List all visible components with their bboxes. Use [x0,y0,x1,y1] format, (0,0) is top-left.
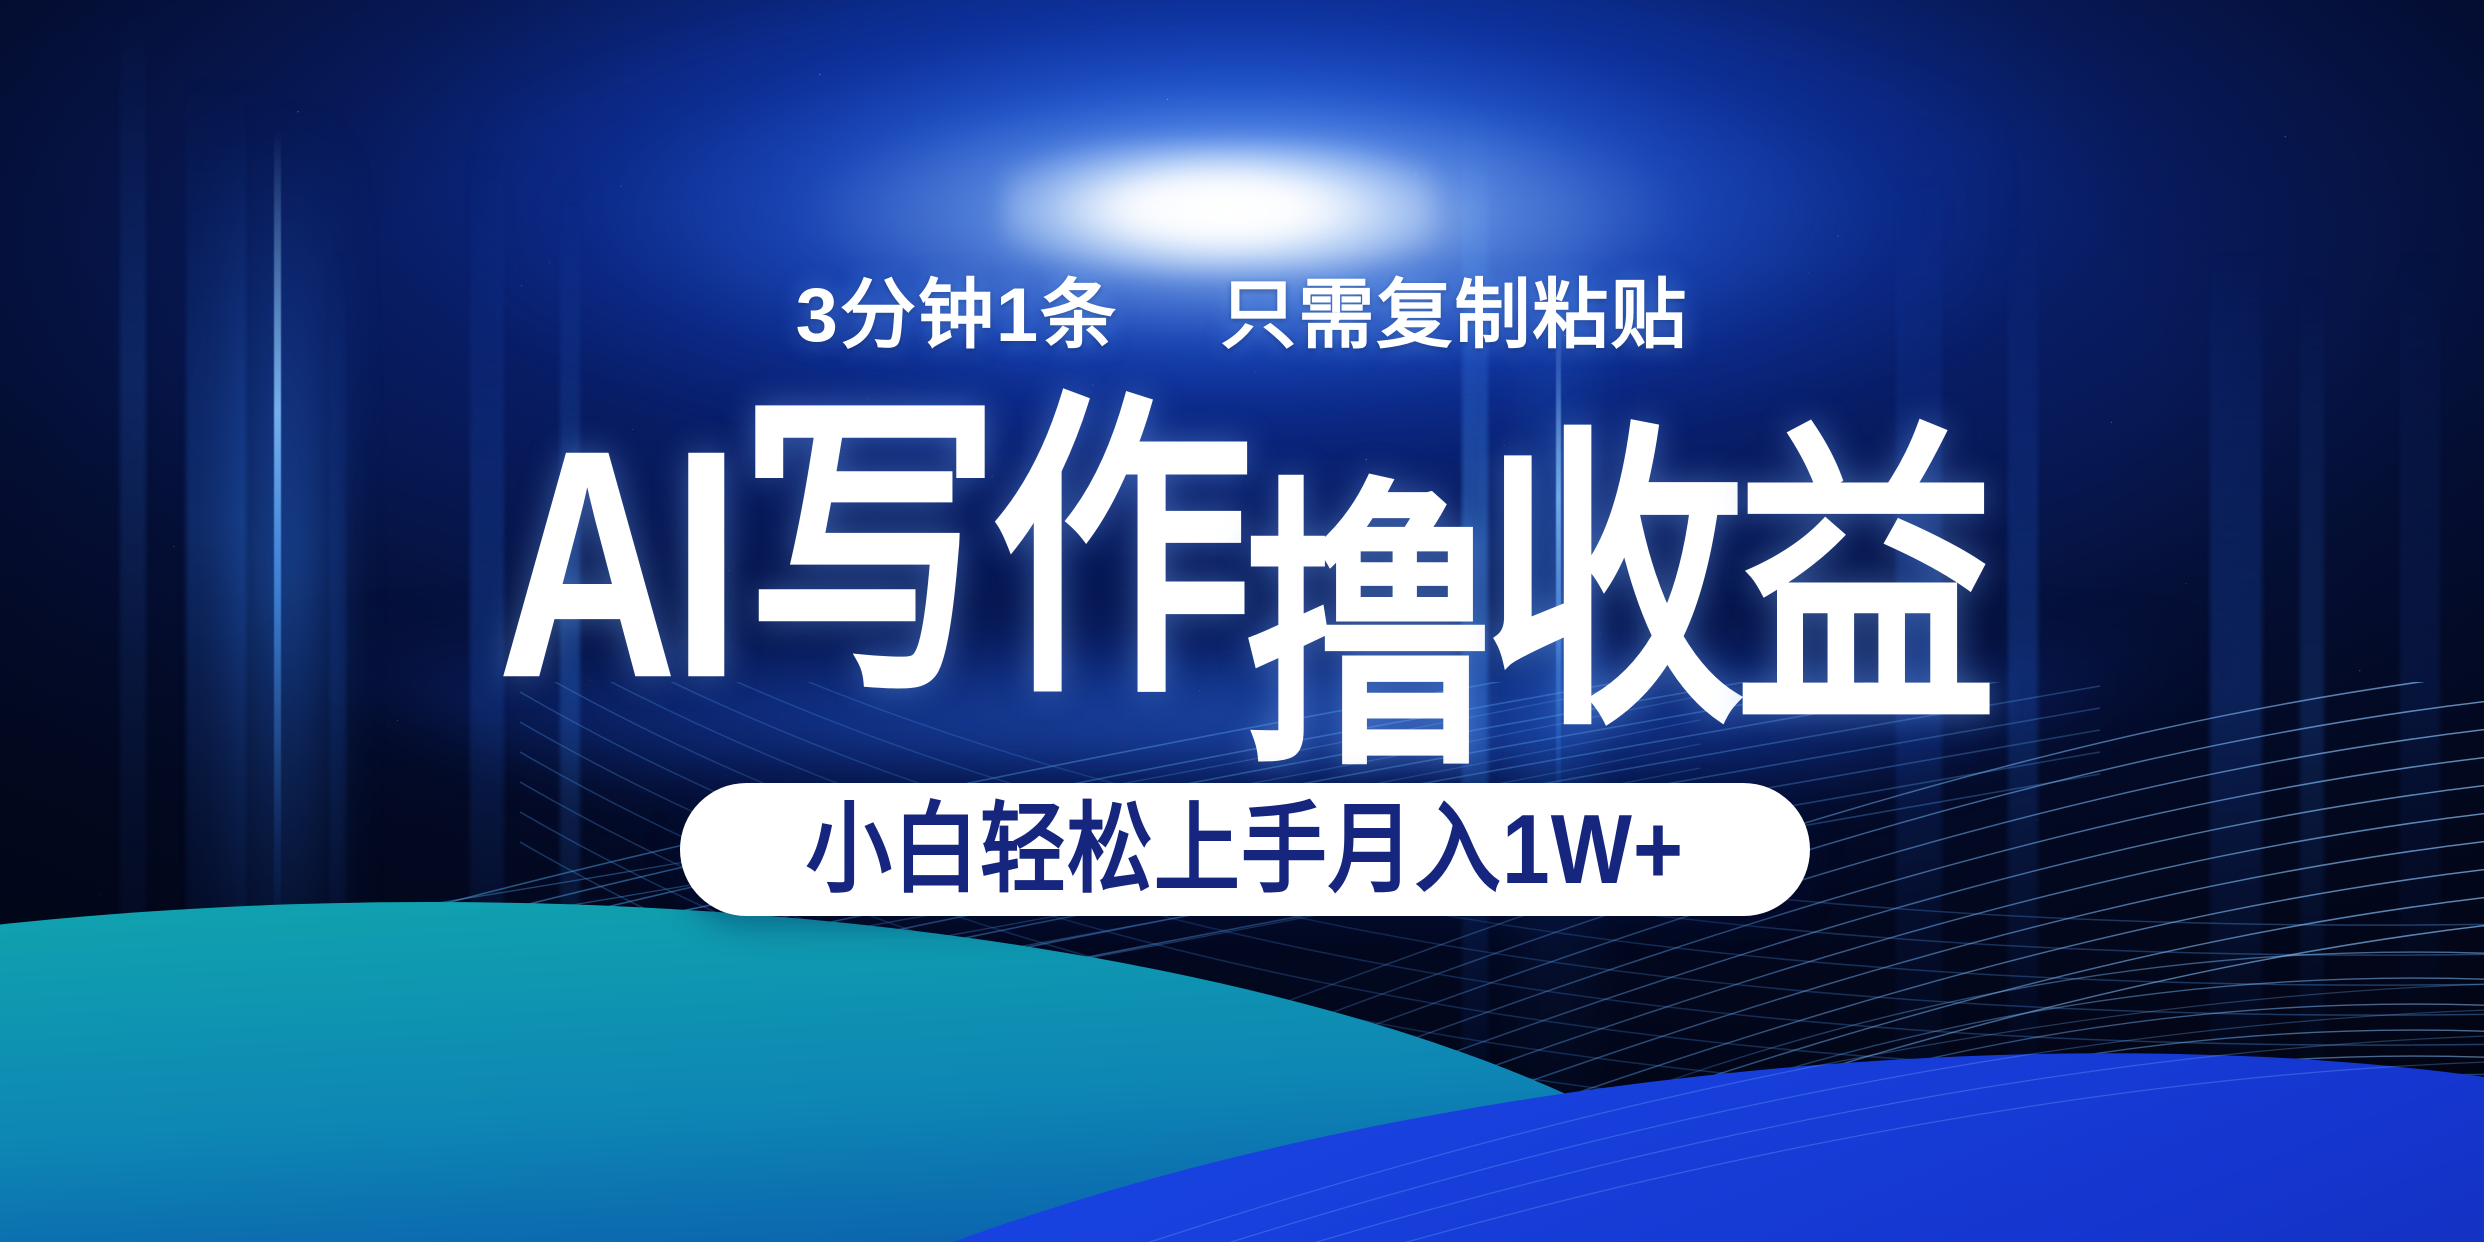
headline-char-ai: AI [497,402,739,727]
poster-canvas: 3分钟1条 只需复制粘贴 AI写作撸收益 小白轻松上手月入1W+ [0,0,2484,1242]
subtitle-pill-text: 小白轻松上手月入1W+ [806,800,1684,898]
content-layer: 3分钟1条 只需复制粘贴 AI写作撸收益 小白轻松上手月入1W+ [0,0,2484,1242]
headline: AI写作撸收益 [0,392,2484,722]
kicker-right: 只需复制粘贴 [1220,273,1688,358]
headline-char-shou: 收 [1483,424,1735,744]
kicker-left: 3分钟1条 [796,273,1119,358]
headline-char-zuo: 作 [991,392,1243,712]
headline-char-yi: 益 [1735,424,1987,744]
headline-char-lu: 撸 [1243,478,1483,783]
headline-char-xie: 写 [739,392,991,712]
kicker-line: 3分钟1条 只需复制粘贴 [0,278,2484,354]
subtitle-pill: 小白轻松上手月入1W+ [680,783,1810,916]
